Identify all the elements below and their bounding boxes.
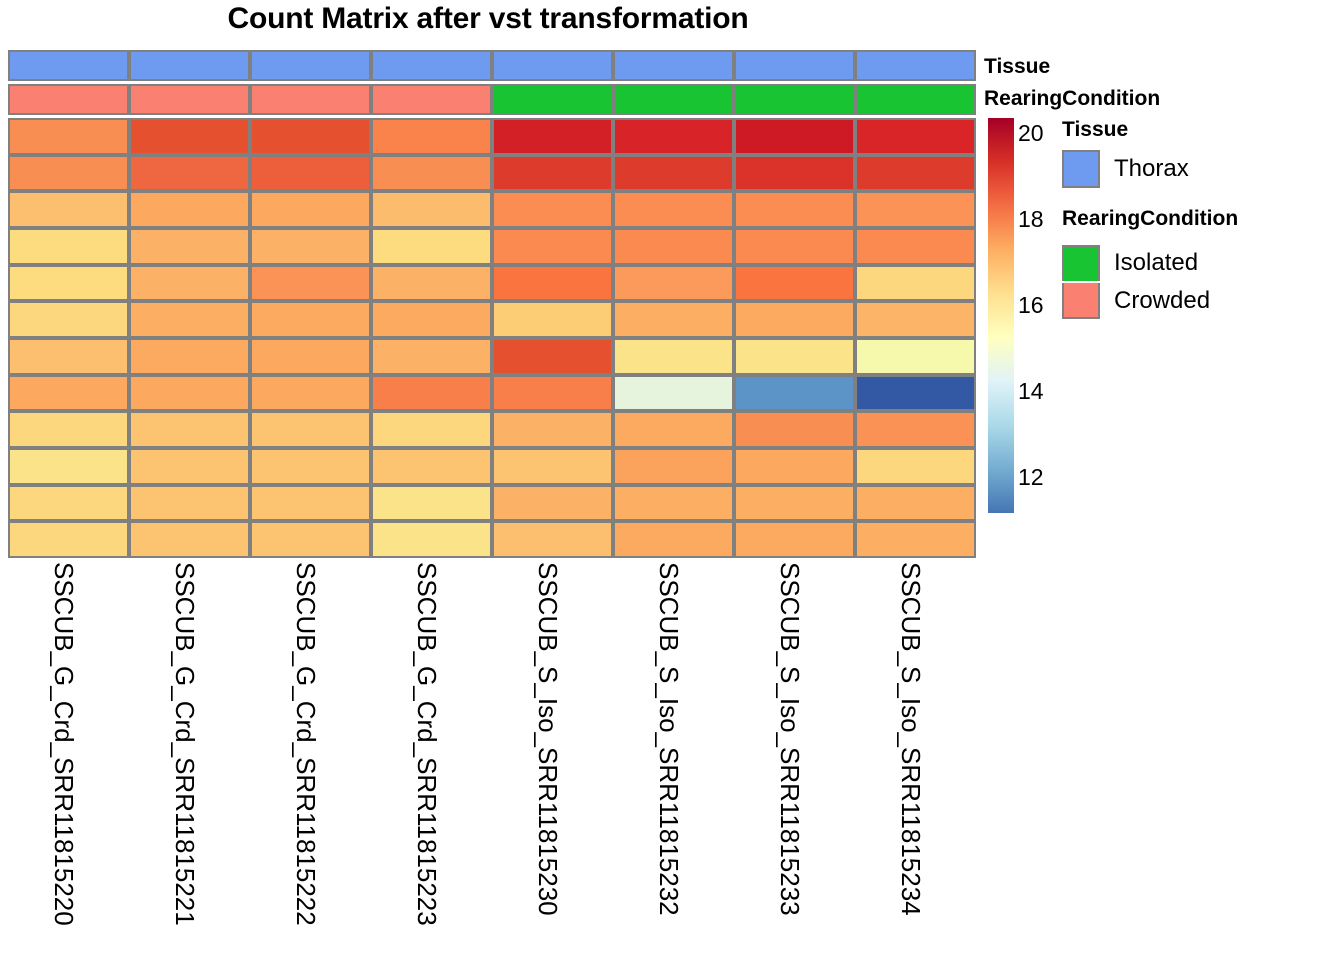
- heatmap-cell: [8, 521, 129, 558]
- heatmap-cell: [613, 191, 734, 228]
- heatmap-row: [8, 265, 976, 302]
- legend-label-thorax: Thorax: [1114, 155, 1189, 183]
- heatmap-cell: [613, 411, 734, 448]
- heatmap-row: [8, 155, 976, 192]
- heatmap-cell: [855, 411, 976, 448]
- legend-entry-isolated: Isolated: [1062, 245, 1198, 281]
- heatmap-cell: [250, 301, 371, 338]
- heatmap-cell: [371, 118, 492, 155]
- heatmap-cell: [8, 448, 129, 485]
- annotation-rearing-cell: [371, 84, 492, 115]
- heatmap-cell: [734, 375, 855, 412]
- heatmap-cell: [492, 155, 613, 192]
- annotation-tissue-cell: [129, 50, 250, 81]
- colorbar-tick-label: 12: [1018, 464, 1044, 491]
- heatmap-cell: [492, 485, 613, 522]
- heatmap-cell: [250, 265, 371, 302]
- heatmap-cell: [129, 521, 250, 558]
- heatmap-cell: [613, 155, 734, 192]
- heatmap-cell: [855, 228, 976, 265]
- legend-swatch-thorax: [1062, 150, 1100, 188]
- column-labels: SSCUB_G_Crd_SRR11815220SSCUB_G_Crd_SRR11…: [8, 558, 976, 958]
- heatmap-cell: [250, 155, 371, 192]
- heatmap-cell: [250, 448, 371, 485]
- heatmap-cell: [129, 375, 250, 412]
- heatmap-cell: [371, 265, 492, 302]
- heatmap-cell: [8, 265, 129, 302]
- column-label: SSCUB_G_Crd_SRR11815220: [48, 562, 79, 926]
- heatmap-cell: [250, 118, 371, 155]
- heatmap-cell: [371, 155, 492, 192]
- annotation-tissue-cell: [8, 50, 129, 81]
- heatmap-cell: [492, 448, 613, 485]
- column-label: SSCUB_S_Iso_SRR11815232: [653, 562, 684, 916]
- heatmap-cell: [250, 375, 371, 412]
- annotation-label-tissue: Tissue: [984, 55, 1050, 79]
- heatmap-cell: [734, 411, 855, 448]
- heatmap-row: [8, 485, 976, 522]
- heatmap-cell: [8, 118, 129, 155]
- heatmap-cell: [371, 301, 492, 338]
- heatmap-cell: [371, 228, 492, 265]
- page-title: Count Matrix after vst transformation: [0, 2, 976, 36]
- legend-swatch-isolated: [1062, 245, 1100, 281]
- heatmap-cell: [613, 521, 734, 558]
- column-label-slot: SSCUB_G_Crd_SRR11815222: [250, 558, 371, 958]
- heatmap-row: [8, 411, 976, 448]
- column-label: SSCUB_G_Crd_SRR11815223: [411, 562, 442, 926]
- heatmap-cell: [734, 265, 855, 302]
- heatmap-cell: [855, 118, 976, 155]
- heatmap-cell: [250, 228, 371, 265]
- heatmap-cell: [8, 338, 129, 375]
- heatmap-row: [8, 118, 976, 155]
- heatmap-cell: [8, 191, 129, 228]
- heatmap-cell: [855, 265, 976, 302]
- heatmap-cell: [492, 301, 613, 338]
- heatmap-cell: [8, 301, 129, 338]
- heatmap-cell: [492, 338, 613, 375]
- column-label: SSCUB_G_Crd_SRR11815222: [290, 562, 321, 926]
- column-label-slot: SSCUB_S_Iso_SRR11815230: [492, 558, 613, 958]
- annotation-rearing-cell: [129, 84, 250, 115]
- heatmap-cell: [250, 338, 371, 375]
- heatmap-cell: [492, 228, 613, 265]
- annotation-tissue-cell: [855, 50, 976, 81]
- heatmap-cell: [8, 411, 129, 448]
- heatmap-cell: [8, 228, 129, 265]
- colorbar-gradient: [988, 118, 1014, 513]
- heatmap-cell: [250, 411, 371, 448]
- heatmap-cell: [492, 375, 613, 412]
- annotation-label-rearing-condition: RearingCondition: [984, 87, 1160, 111]
- heatmap-cell: [613, 485, 734, 522]
- heatmap-cell: [734, 485, 855, 522]
- annotation-rearing-cell: [855, 84, 976, 115]
- column-label-slot: SSCUB_G_Crd_SRR11815223: [371, 558, 492, 958]
- heatmap-cell: [613, 448, 734, 485]
- heatmap-cell: [613, 338, 734, 375]
- heatmap-cell: [250, 485, 371, 522]
- heatmap-cell: [613, 301, 734, 338]
- heatmap-cell: [734, 228, 855, 265]
- legend-label-isolated: Isolated: [1114, 249, 1198, 277]
- heatmap-row: [8, 375, 976, 412]
- annotation-tissue-cell: [734, 50, 855, 81]
- column-label: SSCUB_S_Iso_SRR11815233: [774, 562, 805, 916]
- heatmap-cell: [613, 228, 734, 265]
- colorbar-tick-label: 18: [1018, 206, 1044, 233]
- heatmap-cell: [371, 448, 492, 485]
- heatmap-cell: [613, 375, 734, 412]
- heatmap-cell: [734, 521, 855, 558]
- annotation-tissue-cell: [250, 50, 371, 81]
- heatmap-cell: [492, 191, 613, 228]
- column-label-slot: SSCUB_G_Crd_SRR11815220: [8, 558, 129, 958]
- heatmap-row: [8, 228, 976, 265]
- column-label: SSCUB_G_Crd_SRR11815221: [169, 562, 200, 926]
- legend-entry-crowded: Crowded: [1062, 283, 1210, 319]
- heatmap-cell: [8, 375, 129, 412]
- annotation-tissue-cell: [371, 50, 492, 81]
- heatmap-cell: [855, 191, 976, 228]
- heatmap-cell: [371, 411, 492, 448]
- colorbar-tick-label: 20: [1018, 120, 1044, 147]
- heatmap-cell: [129, 228, 250, 265]
- legend-title-rearing-condition: RearingCondition: [1062, 207, 1238, 231]
- annotation-bar-rearing-condition: [8, 84, 976, 115]
- heatmap-cell: [734, 191, 855, 228]
- heatmap-cell: [250, 521, 371, 558]
- heatmap-row: [8, 338, 976, 375]
- column-label-slot: SSCUB_S_Iso_SRR11815234: [855, 558, 976, 958]
- heatmap-cell: [613, 118, 734, 155]
- heatmap-cell: [129, 338, 250, 375]
- heatmap-cell: [734, 301, 855, 338]
- heatmap-cell: [129, 265, 250, 302]
- heatmap-cell: [734, 118, 855, 155]
- legend-entry-thorax: Thorax: [1062, 150, 1189, 188]
- heatmap-cell: [129, 301, 250, 338]
- heatmap-row: [8, 448, 976, 485]
- heatmap-row: [8, 301, 976, 338]
- heatmap-cell: [855, 155, 976, 192]
- heatmap-cell: [371, 375, 492, 412]
- heatmap-cell: [734, 155, 855, 192]
- heatmap-cell: [492, 411, 613, 448]
- legend-title-tissue: Tissue: [1062, 118, 1128, 142]
- annotation-rearing-cell: [613, 84, 734, 115]
- heatmap-row: [8, 521, 976, 558]
- annotation-rearing-cell: [734, 84, 855, 115]
- colorbar-tick-label: 14: [1018, 378, 1044, 405]
- heatmap-cell: [129, 448, 250, 485]
- annotation-bar-tissue: [8, 50, 976, 81]
- column-label-slot: SSCUB_S_Iso_SRR11815232: [613, 558, 734, 958]
- heatmap-cell: [129, 155, 250, 192]
- heatmap-cell: [129, 191, 250, 228]
- annotation-tissue-cell: [492, 50, 613, 81]
- heatmap-cell: [492, 118, 613, 155]
- heatmap-cell: [734, 448, 855, 485]
- heatmap-cell: [492, 521, 613, 558]
- heatmap-cell: [371, 485, 492, 522]
- heatmap-cell: [371, 521, 492, 558]
- annotation-rearing-cell: [250, 84, 371, 115]
- heatmap-cell: [613, 265, 734, 302]
- column-label: SSCUB_S_Iso_SRR11815230: [532, 562, 563, 916]
- heatmap-cell: [855, 375, 976, 412]
- heatmap-cell: [855, 485, 976, 522]
- heatmap-cell: [8, 155, 129, 192]
- heatmap-cell: [855, 338, 976, 375]
- heatmap-cell: [129, 411, 250, 448]
- heatmap-cell: [371, 338, 492, 375]
- heatmap-cell: [8, 485, 129, 522]
- annotation-tissue-cell: [613, 50, 734, 81]
- heatmap-cell: [129, 118, 250, 155]
- heatmap-cell: [734, 338, 855, 375]
- heatmap-cell: [250, 191, 371, 228]
- heatmap-grid: [8, 118, 976, 558]
- heatmap-cell: [855, 448, 976, 485]
- heatmap-cell: [492, 265, 613, 302]
- column-label-slot: SSCUB_S_Iso_SRR11815233: [734, 558, 855, 958]
- colorbar-tick-label: 16: [1018, 292, 1044, 319]
- legend-label-crowded: Crowded: [1114, 287, 1210, 315]
- heatmap-cell: [855, 301, 976, 338]
- legend-swatch-crowded: [1062, 283, 1100, 319]
- annotation-rearing-cell: [8, 84, 129, 115]
- heatmap-cell: [129, 485, 250, 522]
- annotation-rearing-cell: [492, 84, 613, 115]
- column-label-slot: SSCUB_G_Crd_SRR11815221: [129, 558, 250, 958]
- heatmap-cell: [855, 521, 976, 558]
- heatmap-row: [8, 191, 976, 228]
- heatmap-cell: [371, 191, 492, 228]
- column-label: SSCUB_S_Iso_SRR11815234: [895, 562, 926, 916]
